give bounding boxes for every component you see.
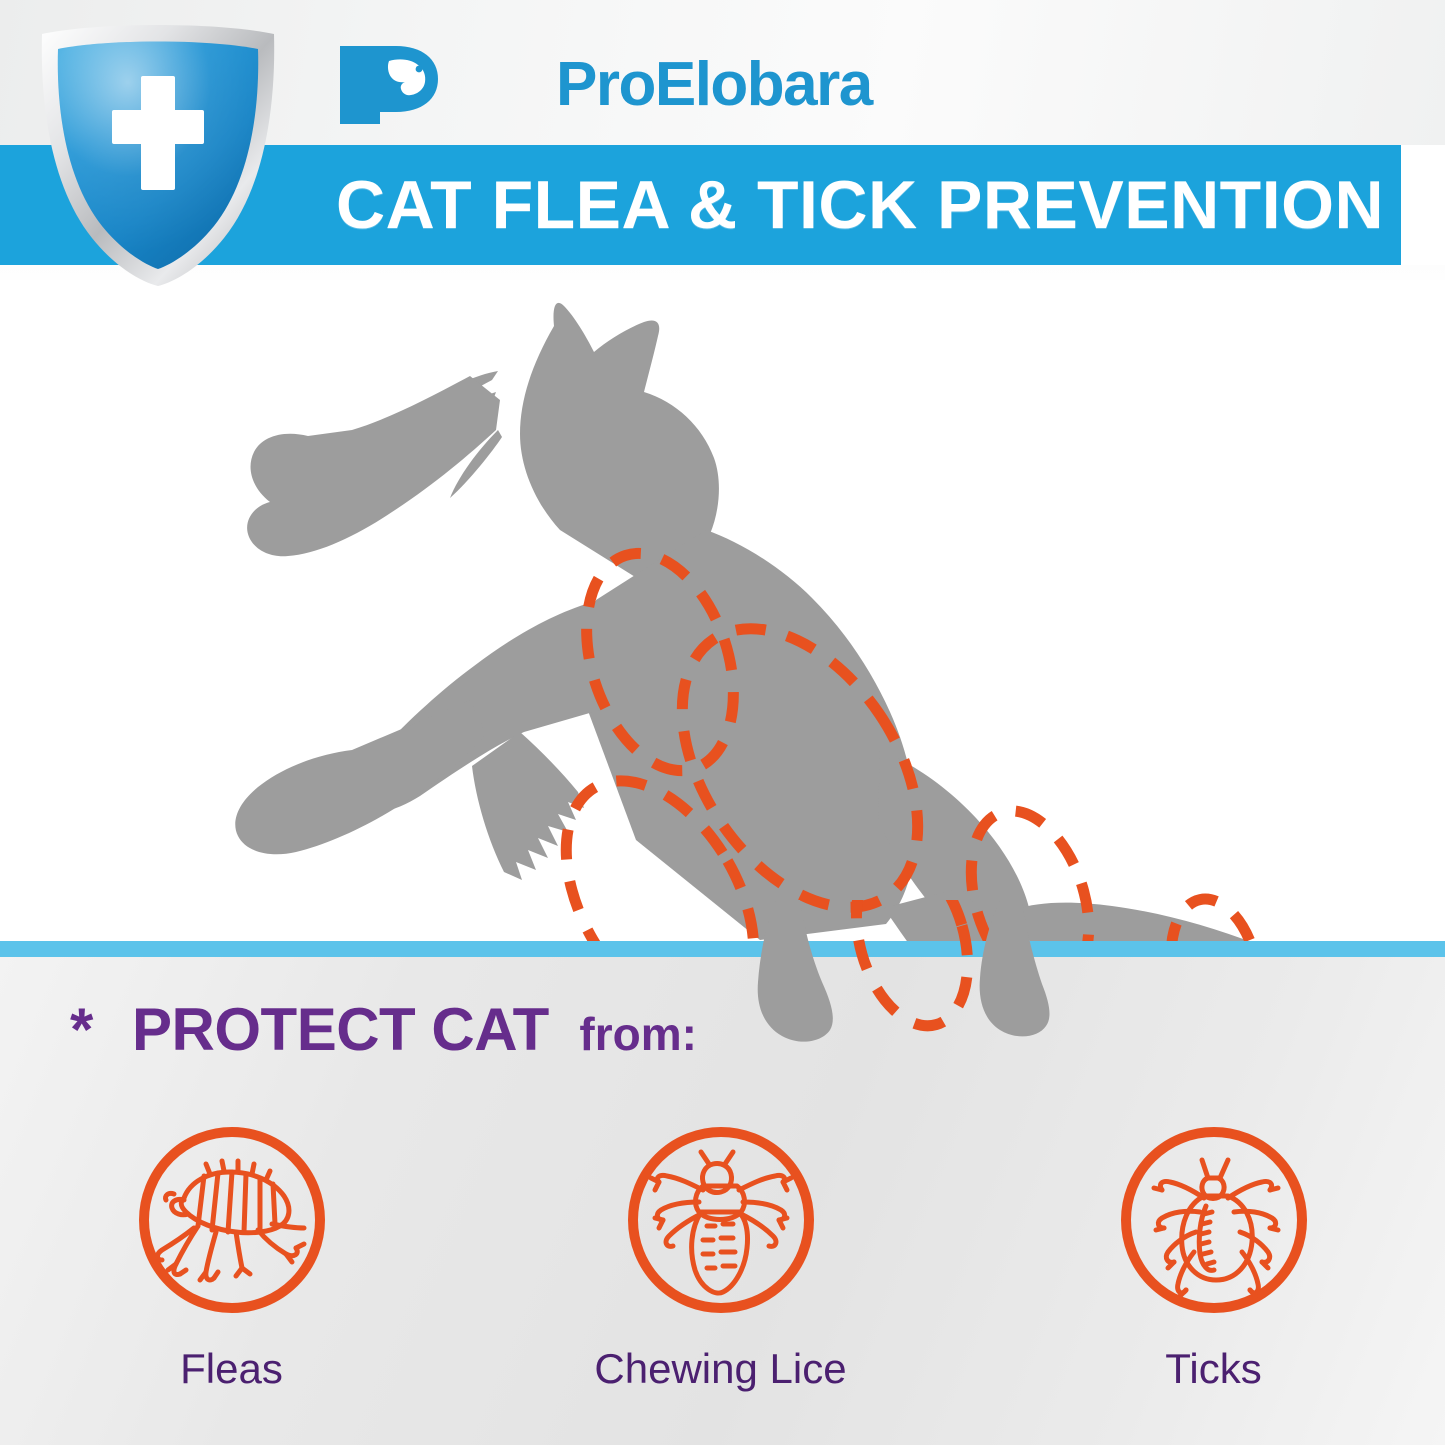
pest-item-tick: Ticks: [973, 1120, 1445, 1440]
pest-label: Chewing Lice: [594, 1348, 846, 1390]
protect-emphasis: PROTECT CAT: [132, 996, 549, 1063]
pest-list: Fleas: [0, 1120, 1445, 1440]
flea-icon: [132, 1120, 332, 1320]
pest-item-chewing-lice: Chewing Lice: [480, 1120, 961, 1440]
cat-silhouette-icon: [0, 280, 1445, 1025]
protect-suffix: from:: [579, 1008, 697, 1060]
title-banner-right-margin: [1401, 145, 1445, 265]
hero-illustration: [0, 280, 1445, 1025]
brand-name: ProElobara: [448, 54, 872, 116]
brand-eye-dot-icon: [416, 66, 423, 73]
louse-icon: [621, 1120, 821, 1320]
shield-plus-icon: [28, 12, 288, 290]
product-label-page: CAT FLEA & TICK PREVENTION ProElobara: [0, 0, 1445, 1445]
tick-icon: [1114, 1120, 1314, 1320]
section-divider: [0, 941, 1445, 957]
protect-heading: * PROTECT CAT from:: [70, 1000, 697, 1060]
pest-label: Fleas: [180, 1348, 283, 1390]
pest-label: Ticks: [1165, 1348, 1261, 1390]
brand-lockup: ProElobara: [334, 42, 872, 128]
page-title: CAT FLEA & TICK PREVENTION: [336, 145, 1401, 265]
icon-ring: [144, 1132, 320, 1308]
pest-item-flea: Fleas: [0, 1120, 472, 1440]
protect-asterisk: *: [70, 996, 93, 1063]
